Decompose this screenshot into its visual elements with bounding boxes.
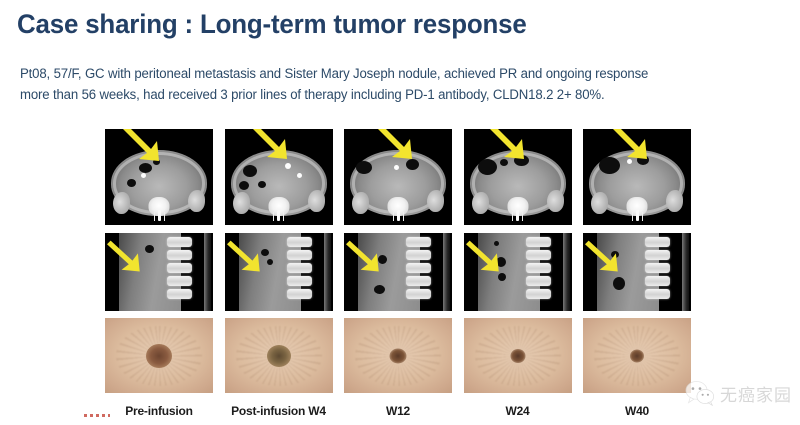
axial-ct-panel[interactable] <box>464 129 572 225</box>
red-dashed-marker <box>84 414 110 417</box>
sagittal-ct-row <box>105 233 691 311</box>
axial-ct-panel[interactable] <box>105 129 213 225</box>
watermark: 无癌家园 <box>685 380 792 406</box>
sagittal-ct-panel[interactable] <box>105 233 213 311</box>
sagittal-ct-panel[interactable] <box>583 233 691 311</box>
axial-ct-panel[interactable] <box>344 129 452 225</box>
case-description: Pt08, 57/F, GC with peritoneal metastasi… <box>20 63 776 105</box>
clinical-photo-panel[interactable] <box>105 318 213 393</box>
sagittal-ct-panel[interactable] <box>464 233 572 311</box>
timepoint-label-pre-infusion: Pre-infusion <box>105 404 213 418</box>
case-description-line-2: more than 56 weeks, had received 3 prior… <box>20 84 776 105</box>
clinical-photo-panel[interactable] <box>464 318 572 393</box>
clinical-photo-panel[interactable] <box>583 318 691 393</box>
wechat-icon <box>685 380 715 406</box>
clinical-photo-row <box>105 318 691 393</box>
timepoint-label-row: Pre-infusion Post-infusion W4 W12 W24 W4… <box>105 404 691 418</box>
case-description-line-1: Pt08, 57/F, GC with peritoneal metastasi… <box>20 63 776 84</box>
axial-ct-panel[interactable] <box>225 129 333 225</box>
timepoint-label-w24: W24 <box>464 404 572 418</box>
watermark-text: 无癌家园 <box>720 381 792 406</box>
page-title: Case sharing : Long-term tumor response <box>17 9 527 40</box>
timepoint-label-w40: W40 <box>583 404 691 418</box>
imaging-grid <box>105 129 691 393</box>
sagittal-ct-panel[interactable] <box>344 233 452 311</box>
timepoint-label-w12: W12 <box>344 404 452 418</box>
sagittal-ct-panel[interactable] <box>225 233 333 311</box>
timepoint-label-post-infusion-w4: Post-infusion W4 <box>225 404 333 418</box>
axial-ct-row <box>105 129 691 225</box>
clinical-photo-panel[interactable] <box>225 318 333 393</box>
clinical-photo-panel[interactable] <box>344 318 452 393</box>
axial-ct-panel[interactable] <box>583 129 691 225</box>
